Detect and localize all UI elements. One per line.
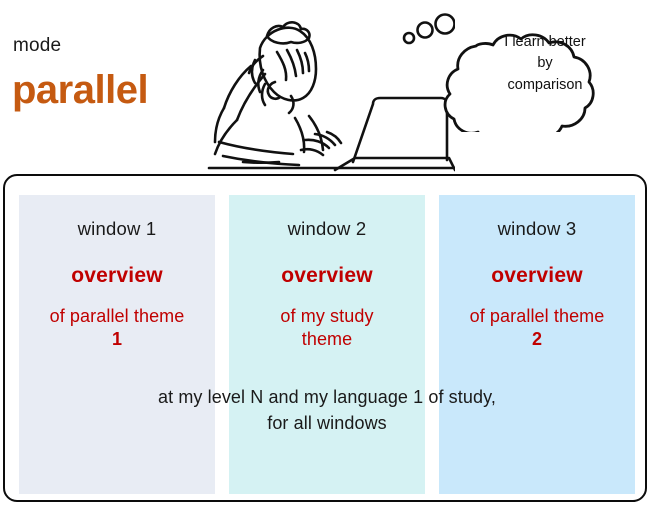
window-3-desc-emph: 2	[443, 328, 631, 351]
student-at-laptop-icon	[205, 0, 455, 172]
window-3-overview: overview	[439, 265, 635, 286]
window-panel-2[interactable]: window 2 overview of my study theme	[229, 195, 425, 494]
windows-container: window 1 overview of parallel theme 1 wi…	[3, 174, 647, 502]
thought-line-3: comparison	[452, 75, 638, 96]
window-panel-3[interactable]: window 3 overview of parallel theme 2	[439, 195, 635, 494]
window-3-description: of parallel theme 2	[439, 305, 635, 351]
mode-label: mode	[13, 36, 61, 55]
header-area: mode parallel	[0, 0, 656, 174]
windows-row: window 1 overview of parallel theme 1 wi…	[19, 195, 635, 494]
window-1-description: of parallel theme 1	[19, 305, 215, 351]
window-2-title: window 2	[229, 220, 425, 239]
window-1-desc-emph: 1	[23, 328, 211, 351]
window-2-desc-text: of my study	[280, 306, 373, 326]
mode-value: parallel	[12, 70, 148, 110]
window-3-title: window 3	[439, 220, 635, 239]
thought-line-2: by	[452, 53, 638, 74]
window-panel-1[interactable]: window 1 overview of parallel theme 1	[19, 195, 215, 494]
window-2-overview: overview	[229, 265, 425, 286]
window-3-desc-text: of parallel theme	[470, 306, 605, 326]
window-2-desc-emph: theme	[233, 328, 421, 351]
window-1-title: window 1	[19, 220, 215, 239]
thought-bubble-text: I learn better by comparison	[452, 32, 638, 96]
thought-line-1: I learn better	[452, 32, 638, 53]
window-2-description: of my study theme	[229, 305, 425, 351]
window-1-overview: overview	[19, 265, 215, 286]
window-1-desc-text: of parallel theme	[50, 306, 185, 326]
